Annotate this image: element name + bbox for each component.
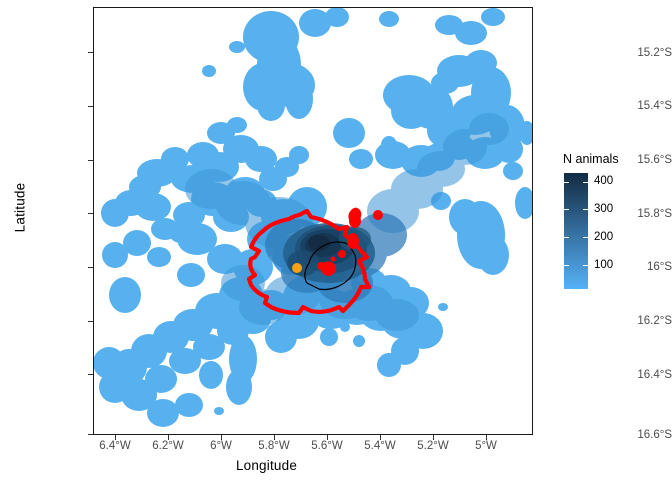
y-tick-mark bbox=[88, 374, 93, 375]
x-axis-title: Longitude bbox=[0, 458, 533, 473]
x-tick-label: 5.4°W bbox=[355, 440, 405, 452]
x-tick-mark bbox=[221, 435, 222, 440]
legend-tick-label: 400 bbox=[594, 175, 613, 187]
x-tick-label: 6.2°W bbox=[143, 440, 193, 452]
x-tick-label: 5.2°W bbox=[408, 440, 458, 452]
x-tick-mark bbox=[168, 435, 169, 440]
y-tick-mark bbox=[88, 213, 93, 214]
legend-title: N animals bbox=[563, 152, 619, 166]
legend-tick-mark bbox=[564, 265, 588, 266]
y-tick-mark bbox=[88, 321, 93, 322]
y-tick-label: 16.2°S bbox=[590, 315, 672, 327]
y-tick-label: 15.2°S bbox=[590, 47, 672, 59]
legend-tick-mark bbox=[564, 237, 588, 238]
map-panel bbox=[93, 7, 533, 435]
legend-tick-mark bbox=[564, 182, 588, 183]
legend-tick-mark bbox=[564, 209, 588, 210]
y-tick-label: 16.6°S bbox=[590, 429, 672, 441]
x-tick-label: 5°W bbox=[461, 440, 511, 452]
x-tick-mark bbox=[433, 435, 434, 440]
x-tick-label: 5.8°W bbox=[249, 440, 299, 452]
x-tick-mark bbox=[380, 435, 381, 440]
x-tick-mark bbox=[274, 435, 275, 440]
legend-tick-label: 100 bbox=[594, 259, 613, 271]
x-tick-mark bbox=[115, 435, 116, 440]
y-tick-mark bbox=[88, 434, 93, 435]
x-tick-label: 6°W bbox=[196, 440, 246, 452]
y-axis-title: Latitude bbox=[13, 158, 28, 258]
y-tick-label: 16.4°S bbox=[590, 369, 672, 381]
y-tick-mark bbox=[88, 160, 93, 161]
x-tick-mark bbox=[486, 435, 487, 440]
legend-colorbar bbox=[564, 173, 588, 289]
y-tick-label: 15.4°S bbox=[590, 100, 672, 112]
legend-tick-label: 200 bbox=[594, 231, 613, 243]
y-tick-mark bbox=[88, 267, 93, 268]
x-tick-mark bbox=[327, 435, 328, 440]
y-tick-mark bbox=[88, 52, 93, 53]
legend-tick-label: 300 bbox=[594, 203, 613, 215]
y-tick-mark bbox=[88, 106, 93, 107]
site-marker-point[interactable] bbox=[292, 263, 302, 273]
x-tick-label: 5.6°W bbox=[302, 440, 352, 452]
density-map bbox=[93, 7, 533, 435]
x-tick-label: 6.4°W bbox=[90, 440, 140, 452]
chart-figure: 15.2°S 15.4°S 15.6°S 15.8°S 16°S 16.2°S … bbox=[0, 0, 672, 480]
